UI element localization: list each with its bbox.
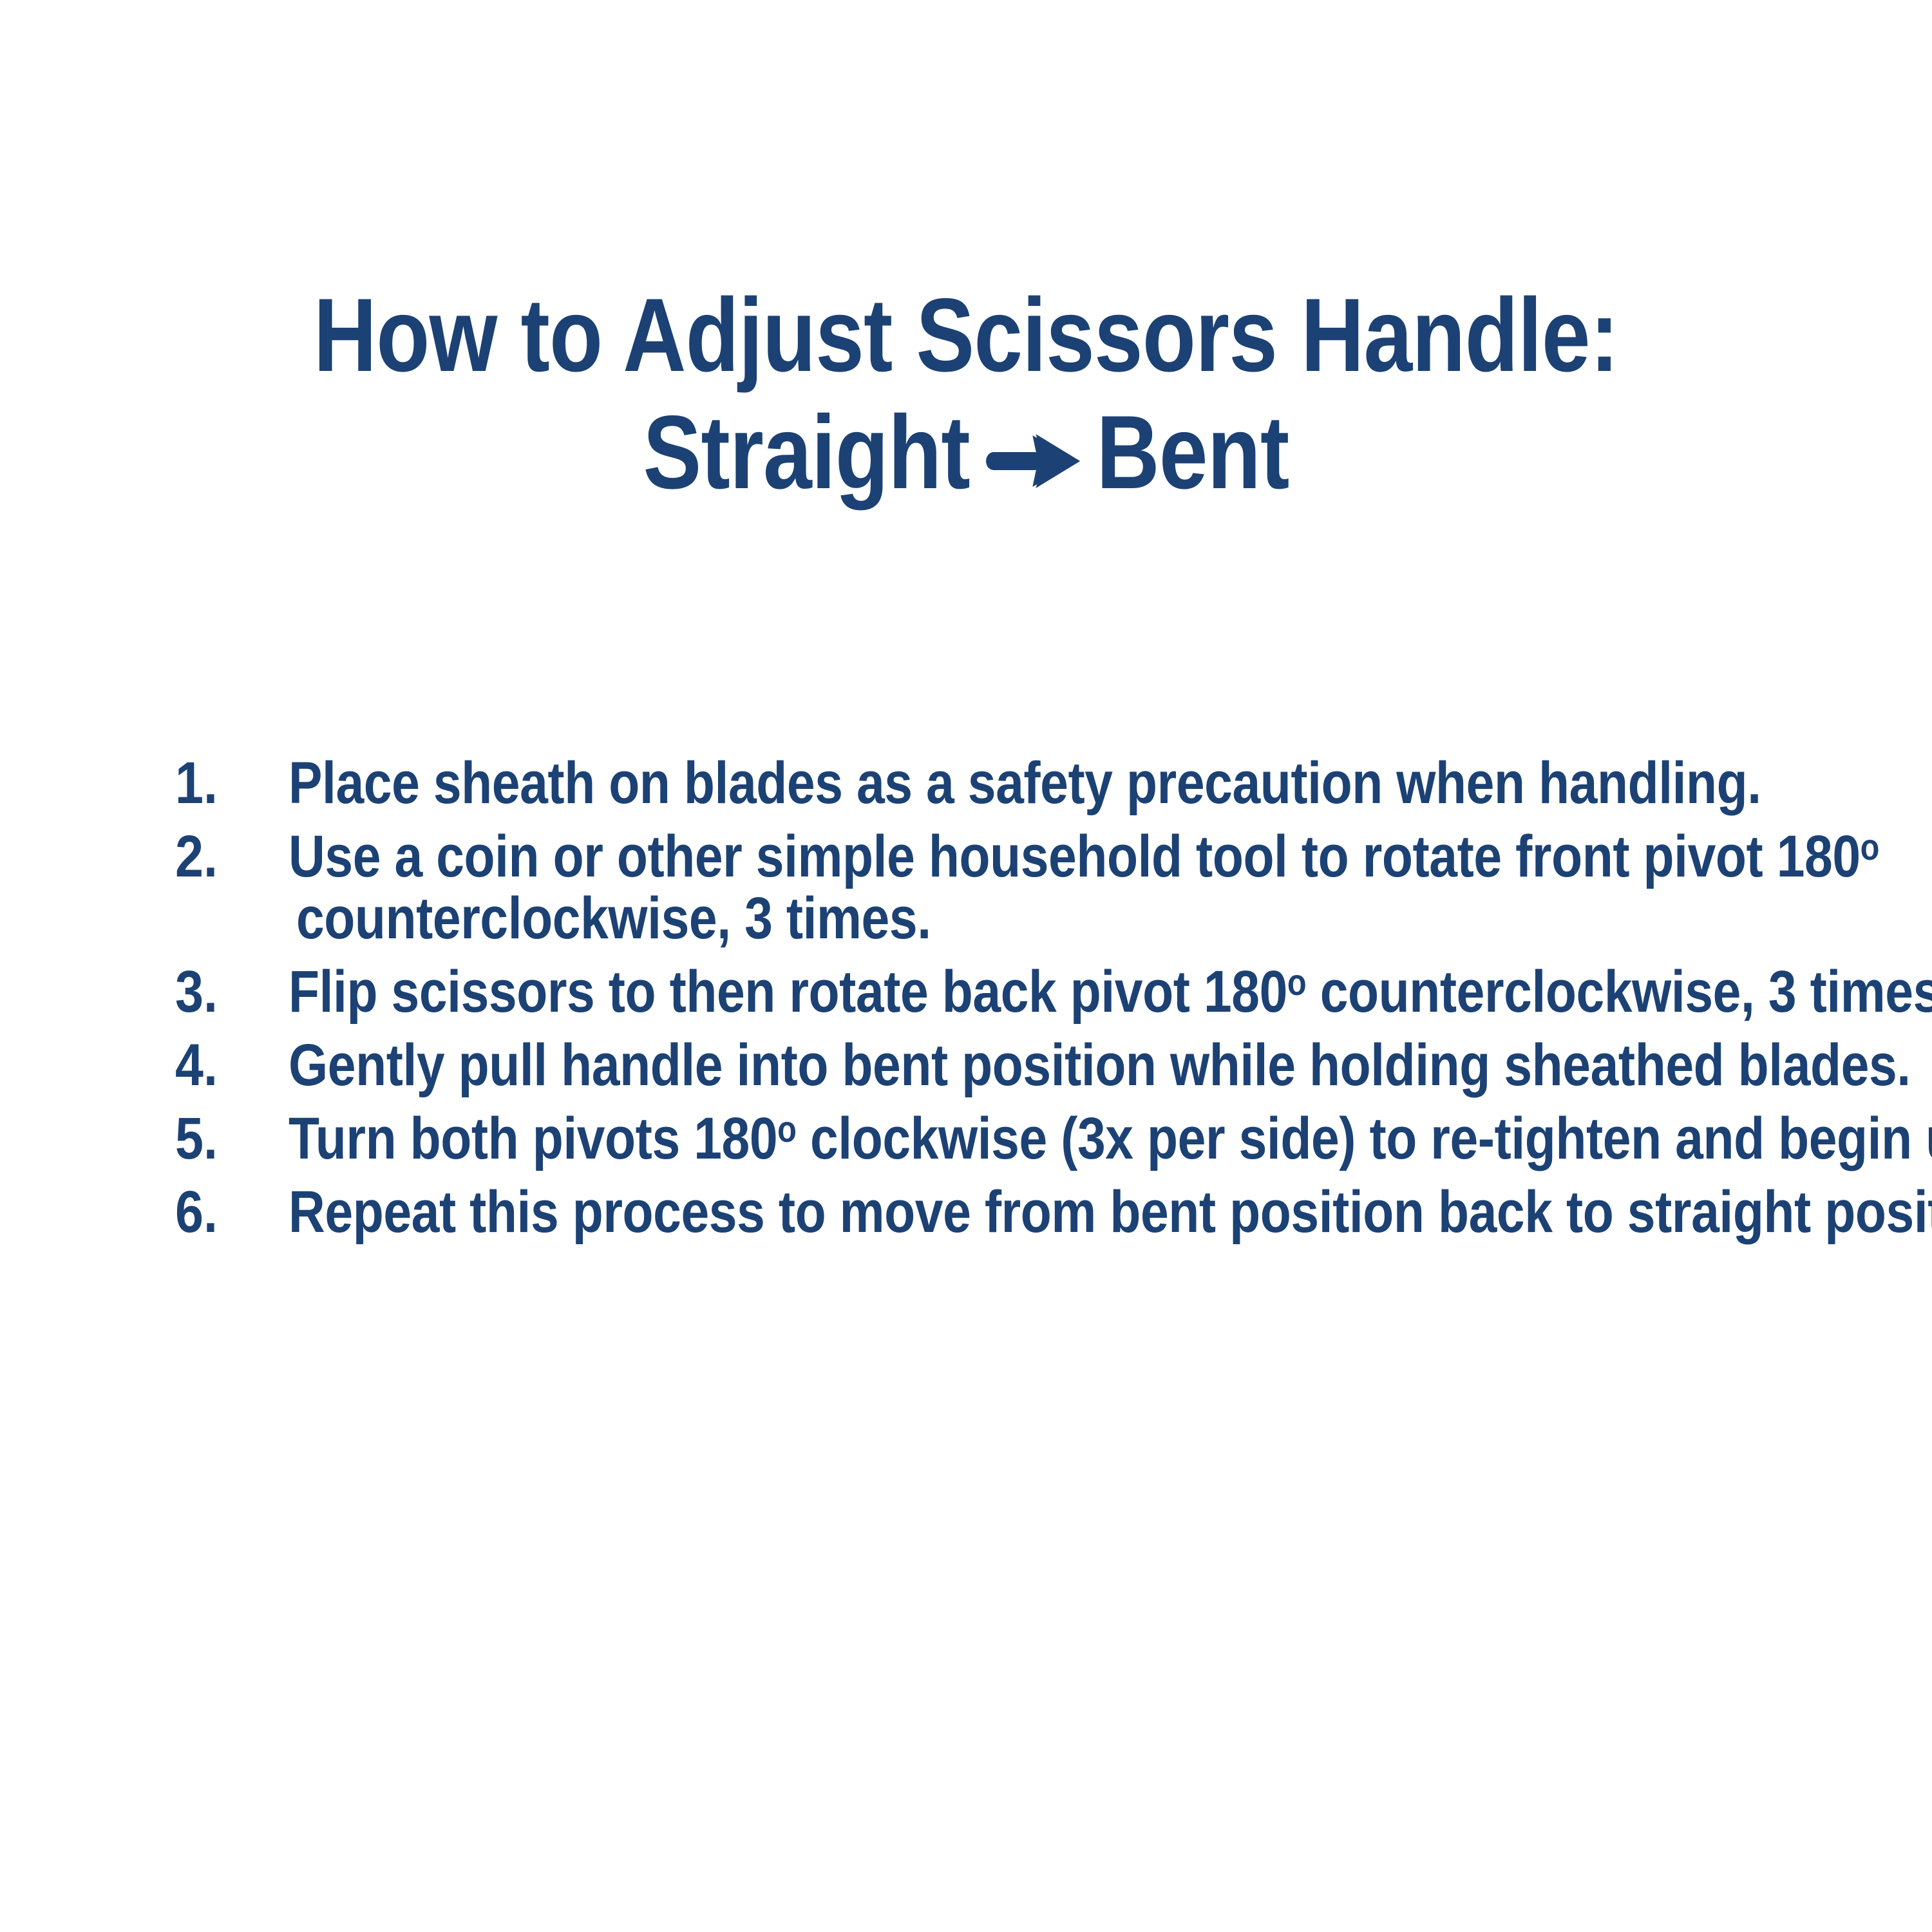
step-body: Repeat this process to move from bent po… [289, 1181, 1932, 1243]
step-text-line: Gently pull handle into bent position wh… [289, 1034, 1698, 1096]
step-body: Flip scissors to then rotate back pivot … [289, 961, 1932, 1023]
step-body: Turn both pivots 180o clockwise (3x per … [289, 1108, 1932, 1170]
degree-symbol: o [777, 1109, 796, 1150]
list-item: 6. Repeat this process to move from bent… [26, 1181, 1932, 1243]
step-number: 3. [175, 961, 247, 1023]
list-item: 1. Place sheath on blades as a safety pr… [26, 752, 1932, 814]
step-number: 5. [175, 1108, 247, 1170]
step-text-line: Repeat this process to move from bent po… [289, 1181, 1698, 1243]
title-state-to: Bent [1096, 394, 1289, 511]
arrow-right-icon [970, 430, 1097, 492]
title-line-1: How to Adjust Scissors Handle: [155, 277, 1777, 394]
step-text-line: Flip scissors to then rotate back pivot … [289, 961, 1698, 1023]
title-line-2: StraightBent [155, 394, 1777, 511]
steps-list: 1. Place sheath on blades as a safety pr… [0, 752, 1932, 1255]
step-text-line: Place sheath on blades as a safety preca… [289, 752, 1698, 814]
list-item: 4. Gently pull handle into bent position… [26, 1034, 1932, 1096]
list-item: 3. Flip scissors to then rotate back piv… [26, 961, 1932, 1023]
title-state-from: Straight [643, 394, 970, 511]
instruction-sheet: How to Adjust Scissors Handle: StraightB… [0, 0, 1932, 1932]
list-item: 2. Use a coin or other simple household … [26, 826, 1932, 949]
list-item: 5. Turn both pivots 180o clockwise (3x p… [26, 1108, 1932, 1170]
step-body: Gently pull handle into bent position wh… [289, 1034, 1932, 1096]
step-number: 6. [175, 1181, 247, 1243]
step-number: 2. [175, 826, 247, 887]
step-text-line: Use a coin or other simple household too… [289, 826, 1698, 887]
degree-symbol: o [1287, 962, 1306, 1003]
degree-symbol: o [1861, 827, 1879, 868]
step-number: 4. [175, 1034, 247, 1096]
step-body: Place sheath on blades as a safety preca… [289, 752, 1932, 814]
page-title: How to Adjust Scissors Handle: StraightB… [0, 277, 1932, 511]
step-text-line-continued: counterclockwise, 3 times. [289, 887, 1698, 949]
step-number: 1. [175, 752, 247, 814]
step-text-line: Turn both pivots 180o clockwise (3x per … [289, 1108, 1698, 1170]
step-body: Use a coin or other simple household too… [289, 826, 1932, 949]
